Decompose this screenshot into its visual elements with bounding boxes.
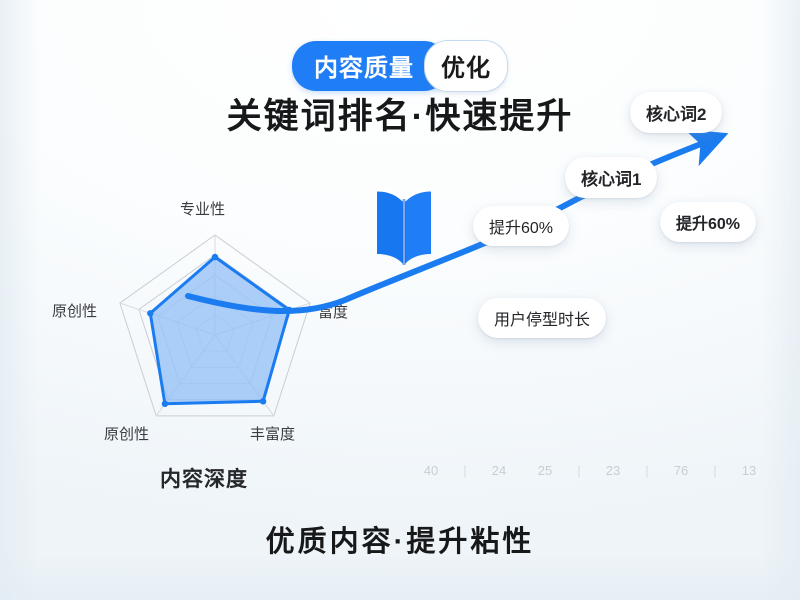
axis-value-3: 23 bbox=[590, 463, 636, 478]
pill-keyword-2[interactable]: 核心词2 bbox=[630, 92, 722, 133]
numeric-axis: 40 | 24 25 | 23 | 76 | 13 bbox=[408, 463, 772, 478]
pill-keyword-1[interactable]: 核心词1 bbox=[565, 157, 657, 198]
axis-tick-2: | bbox=[636, 463, 658, 478]
axis-value-0: 40 bbox=[408, 463, 454, 478]
axis-value-2: 25 bbox=[522, 463, 568, 478]
axis-value-1: 24 bbox=[476, 463, 522, 478]
axis-tick-0: | bbox=[454, 463, 476, 478]
open-book-icon bbox=[373, 186, 435, 272]
footer-title: 优质内容·提升粘性 bbox=[0, 518, 800, 560]
axis-tick-3: | bbox=[704, 463, 726, 478]
axis-tick-1: | bbox=[568, 463, 590, 478]
axis-value-5: 13 bbox=[726, 463, 772, 478]
badge-secondary[interactable]: 优化 bbox=[424, 40, 508, 92]
pill-uplift-right[interactable]: 提升60% bbox=[660, 202, 756, 242]
axis-value-4: 76 bbox=[658, 463, 704, 478]
content-depth-label: 内容深度 bbox=[160, 463, 248, 493]
pill-uplift-left[interactable]: 提升60% bbox=[473, 206, 569, 246]
slide-canvas: 内容质量 优化 关键词排名·快速提升 bbox=[0, 0, 800, 600]
pill-dwell-time[interactable]: 用户停型时长 bbox=[478, 298, 606, 338]
